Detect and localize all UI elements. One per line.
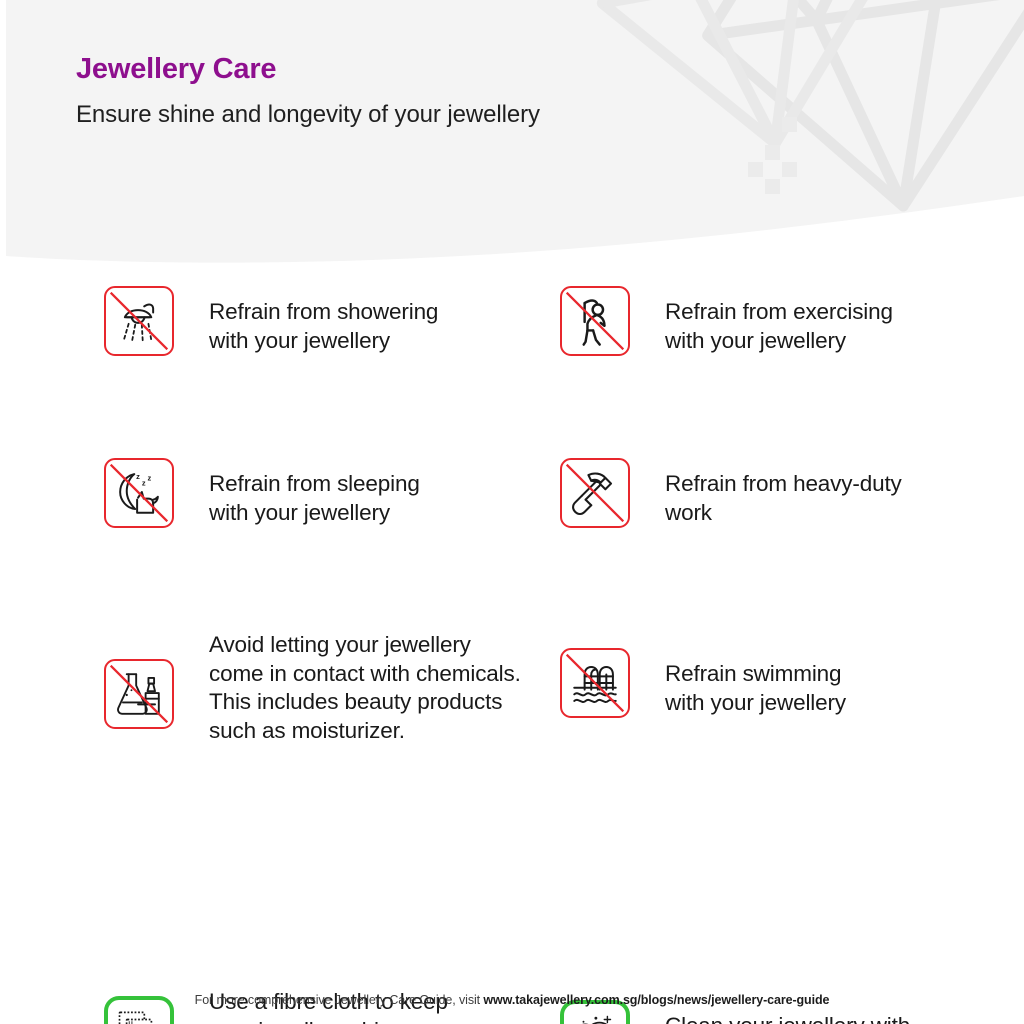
tip-row: Avoid letting your jewellery come in con… — [0, 616, 1024, 806]
tip-row: Use a fibre cloth to keep your jewellery… — [0, 806, 1024, 976]
tip-label: Refrain from showering with your jewelle… — [209, 286, 438, 355]
header-band-shape — [0, 0, 1024, 280]
chemicals-flask-icon — [104, 659, 174, 729]
tip-item: Avoid letting your jewellery come in con… — [104, 630, 544, 745]
svg-text:z: z — [142, 478, 146, 487]
page-title: Jewellery Care — [76, 52, 776, 86]
infographic-page: Jewellery Care Ensure shine and longevit… — [0, 0, 1024, 1024]
header-band: Jewellery Care Ensure shine and longevit… — [0, 0, 1024, 280]
tip-item: Refrain from exercising with your jewell… — [560, 286, 980, 356]
tips-grid: Refrain from showering with your jewelle… — [0, 272, 1024, 976]
tip-item: Refrain from showering with your jewelle… — [104, 286, 544, 356]
footer-prefix: For more comprehensive Jewellery Care Gu… — [195, 993, 484, 1007]
shower-icon — [104, 286, 174, 356]
swimming-pool-ladder-icon — [560, 648, 630, 718]
tip-row: z z z Refrain from sleeping with your je… — [0, 444, 1024, 616]
exercising-person-icon — [560, 286, 630, 356]
header-text-block: Jewellery Care Ensure shine and longevit… — [76, 52, 776, 130]
tip-label: Refrain swimming with your jewellery — [665, 648, 846, 717]
tip-label: Refrain from sleeping with your jeweller… — [209, 458, 420, 527]
tip-label: Refrain from exercising with your jewell… — [665, 286, 893, 355]
tip-row: Refrain from showering with your jewelle… — [0, 272, 1024, 444]
svg-text:z: z — [136, 472, 140, 481]
tip-item: Refrain swimming with your jewellery — [560, 648, 980, 718]
svg-text:z: z — [147, 474, 151, 483]
page-subtitle: Ensure shine and longevity of your jewel… — [76, 100, 776, 130]
tip-item: z z z Refrain from sleeping with your je… — [104, 458, 544, 528]
hammer-icon — [560, 458, 630, 528]
tip-label: Avoid letting your jewellery come in con… — [209, 630, 521, 745]
sleeping-moon-cat-icon: z z z — [104, 458, 174, 528]
footer: For more comprehensive Jewellery Care Gu… — [0, 993, 1024, 1007]
footer-url[interactable]: www.takajewellery.com.sg/blogs/news/jewe… — [483, 993, 829, 1007]
tip-label: Refrain from heavy-duty work — [665, 458, 902, 527]
tip-item: Refrain from heavy-duty work — [560, 458, 980, 528]
